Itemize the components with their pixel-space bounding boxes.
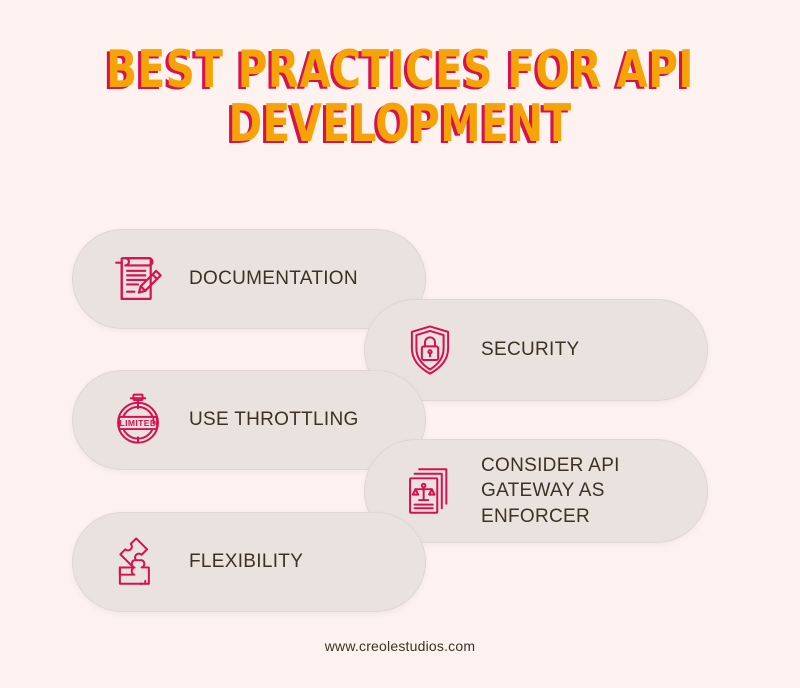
card-label: CONSIDER API GATEWAY AS ENFORCER — [481, 453, 707, 528]
card-throttling[interactable]: LIMITED USE THROTTLING — [72, 370, 426, 470]
card-label: USE THROTTLING — [189, 407, 359, 432]
card-gateway[interactable]: CONSIDER API GATEWAY AS ENFORCER — [364, 439, 708, 543]
infographic-poster: BEST PRACTICES FOR API DEVELOPMENT DOCUM… — [0, 0, 800, 688]
stopwatch-limited-icon: LIMITED — [109, 391, 167, 449]
page-title: BEST PRACTICES FOR API DEVELOPMENT — [0, 46, 800, 149]
card-label: DOCUMENTATION — [189, 266, 358, 291]
notepad-pen-icon — [109, 250, 167, 308]
card-documentation[interactable]: DOCUMENTATION — [72, 229, 426, 329]
card-label: FLEXIBILITY — [189, 549, 303, 574]
footer-website-url[interactable]: www.creolestudios.com — [0, 638, 800, 654]
puzzle-pieces-icon — [109, 533, 167, 591]
card-flexibility[interactable]: FLEXIBILITY — [72, 512, 426, 612]
card-security[interactable]: SECURITY — [364, 299, 708, 401]
title-line-2: DEVELOPMENT — [88, 100, 712, 148]
documents-scale-icon — [401, 462, 459, 520]
shield-lock-icon — [401, 321, 459, 379]
card-label: SECURITY — [481, 337, 579, 362]
svg-text:LIMITED: LIMITED — [120, 418, 157, 428]
title-line-1: BEST PRACTICES FOR API — [88, 46, 712, 94]
